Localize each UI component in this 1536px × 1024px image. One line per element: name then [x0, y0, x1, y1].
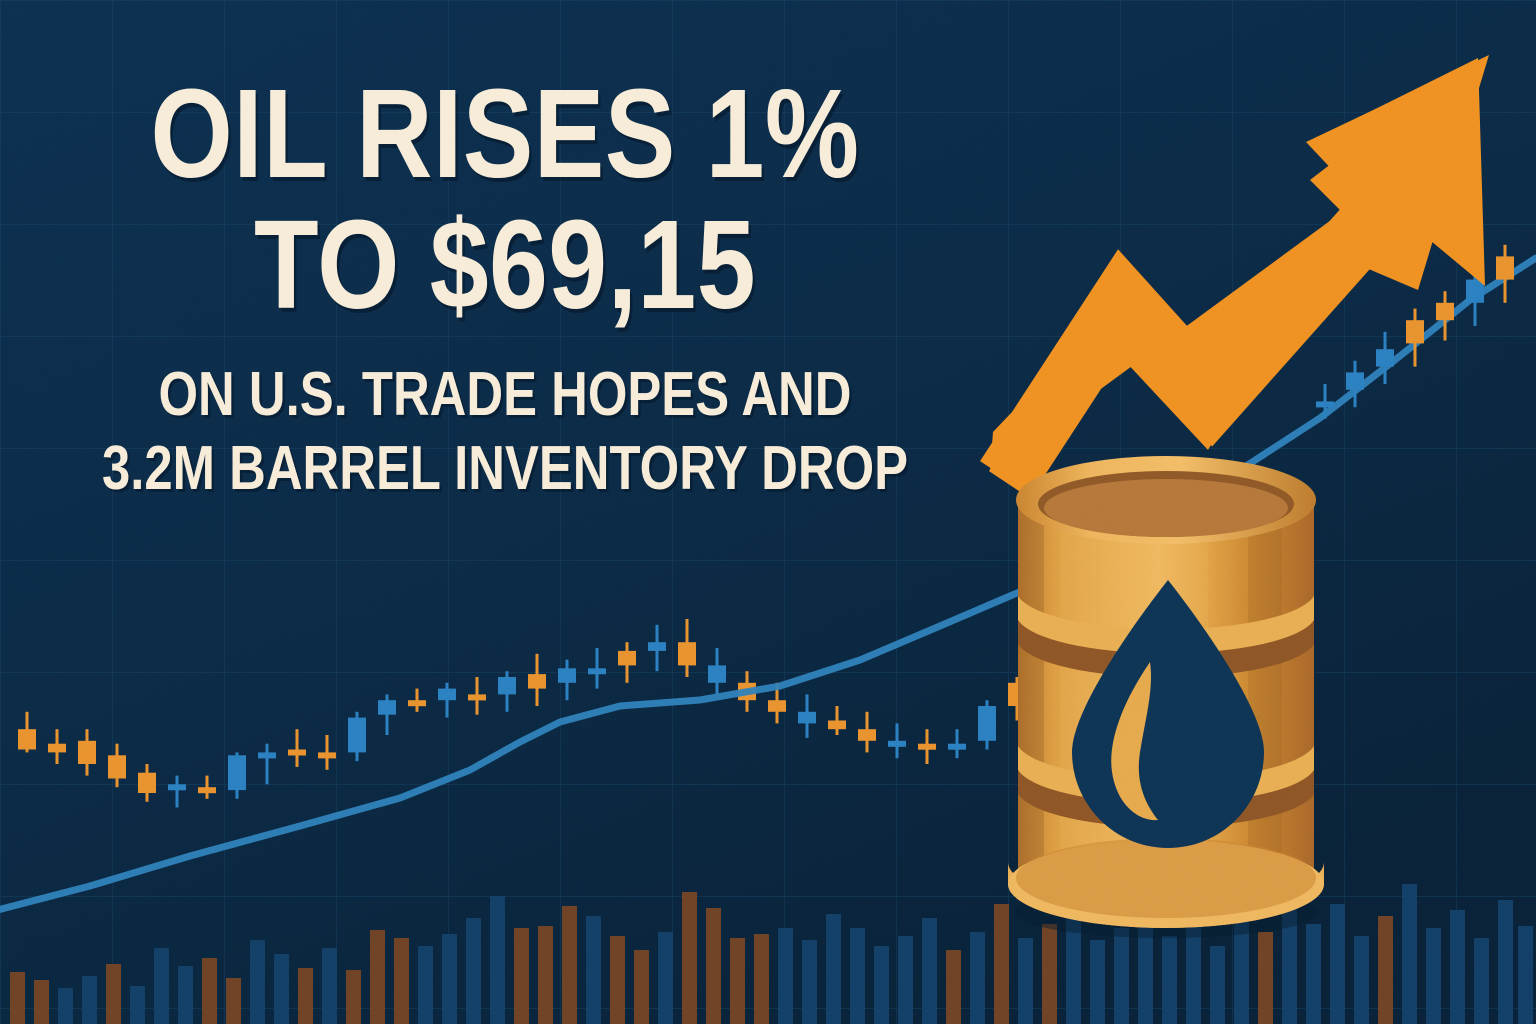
news-graphic-canvas: OIL RISES 1% TO $69,15 ON U.S. TRADE HOP…	[0, 0, 1536, 1024]
oil-barrel	[0, 0, 1536, 1024]
